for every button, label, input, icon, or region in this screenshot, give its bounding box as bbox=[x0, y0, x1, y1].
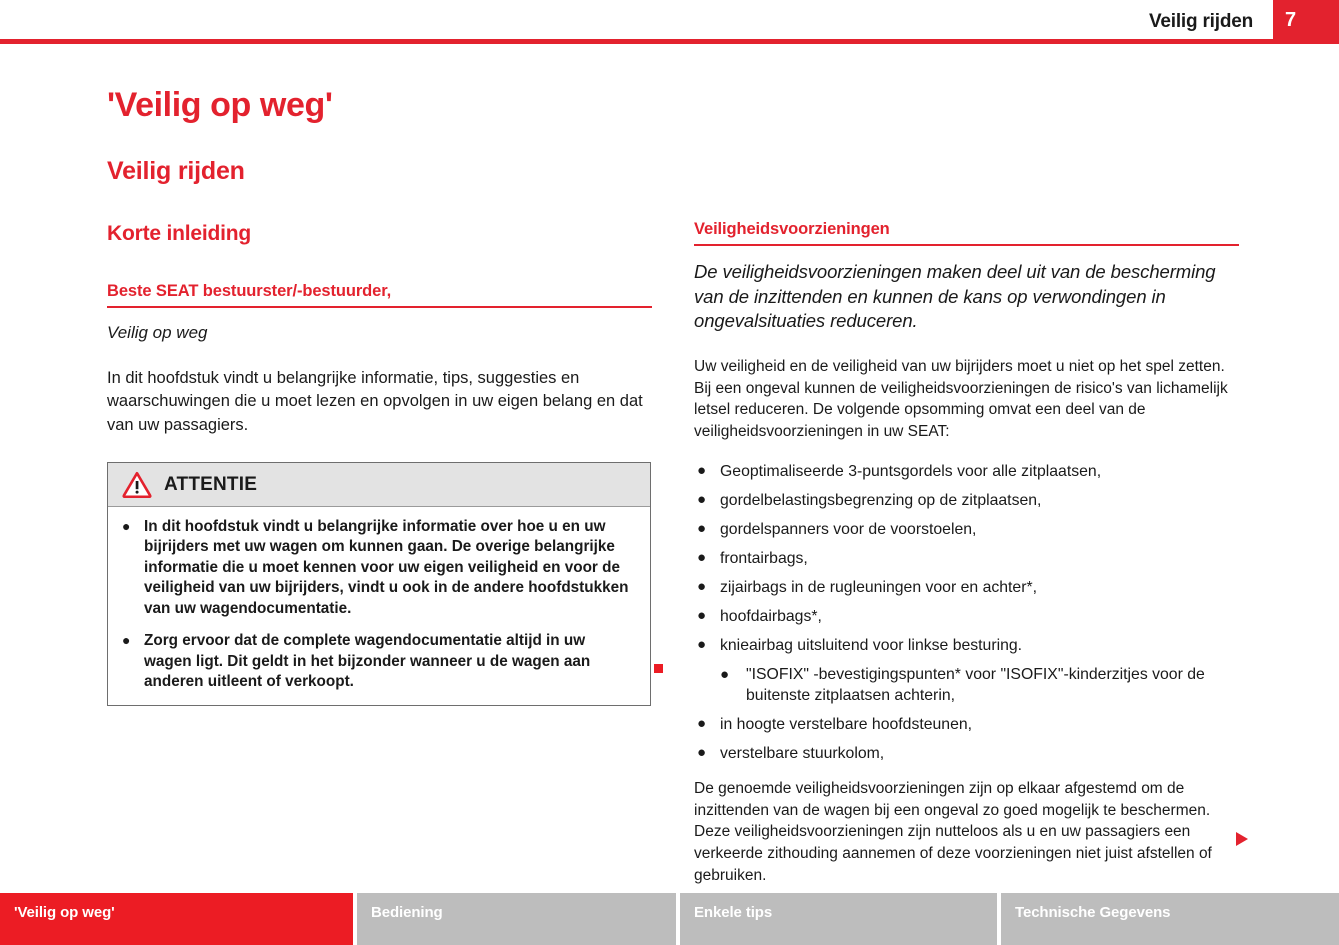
bullet-dot-icon: ● bbox=[697, 743, 706, 763]
page-number: 7 bbox=[1285, 9, 1296, 32]
warning-bullet-dot: ● bbox=[122, 517, 144, 536]
bullet-dot-icon: ● bbox=[697, 714, 706, 734]
attentie-warning-box: ATTENTIE ●In dit hoofdstuk vindt u belan… bbox=[107, 462, 651, 706]
safety-features-list: ●Geoptimaliseerde 3-puntsgordels voor al… bbox=[694, 461, 1239, 764]
warning-triangle-icon bbox=[122, 471, 152, 498]
left-sub-heading: Beste SEAT bestuurster/-bestuurder, bbox=[107, 282, 652, 302]
footer-tab-label: Bediening bbox=[371, 904, 443, 921]
continuation-arrow-icon bbox=[1236, 832, 1248, 846]
footer-tab-veilig-op-weg[interactable]: 'Veilig op weg' bbox=[0, 893, 353, 945]
list-item: ●gordelbelastingsbegrenzing op de zitpla… bbox=[694, 490, 1239, 511]
warning-item-text: In dit hoofdstuk vindt u belangrijke inf… bbox=[144, 518, 628, 617]
red-square-marker bbox=[654, 664, 663, 673]
list-item-text: verstelbare stuurkolom, bbox=[720, 745, 884, 762]
page-header: Veilig rijden 7 bbox=[0, 0, 1339, 44]
warning-bullet-dot: ● bbox=[122, 631, 144, 650]
left-heading-rule bbox=[107, 306, 652, 309]
list-item: ●in hoogte verstelbare hoofdsteunen, bbox=[694, 714, 1239, 735]
list-item: ●frontairbags, bbox=[694, 548, 1239, 569]
bullet-dot-icon: ● bbox=[697, 635, 706, 655]
right-paragraph-1: Uw veiligheid en de veiligheid van uw bi… bbox=[694, 356, 1239, 443]
list-item-text: frontairbags, bbox=[720, 550, 808, 567]
list-item-text: "ISOFIX" -bevestigingspunten* voor "ISOF… bbox=[746, 666, 1205, 704]
footer-tab-enkele-tips[interactable]: Enkele tips bbox=[680, 893, 997, 945]
bullet-dot-icon: ● bbox=[697, 461, 706, 481]
warning-item-text: Zorg ervoor dat de complete wagendocumen… bbox=[144, 632, 590, 690]
chapter-title: Veilig rijden bbox=[107, 157, 245, 186]
warning-box-header: ATTENTIE bbox=[108, 463, 650, 507]
right-paragraph-2: De genoemde veiligheidsvoorzieningen zij… bbox=[694, 778, 1239, 886]
footer-tab-label: Enkele tips bbox=[694, 904, 772, 921]
section-title: Korte inleiding bbox=[107, 222, 251, 246]
bullet-dot-icon: ● bbox=[697, 548, 706, 568]
header-chapter-title: Veilig rijden bbox=[1149, 11, 1253, 33]
right-heading-rule bbox=[694, 244, 1239, 247]
bullet-dot-icon: ● bbox=[720, 665, 746, 685]
footer-tab-label: Technische Gegevens bbox=[1015, 904, 1170, 921]
footer-tab-bar: 'Veilig op weg' Bediening Enkele tips Te… bbox=[0, 893, 1339, 945]
left-paragraph: In dit hoofdstuk vindt u belangrijke inf… bbox=[107, 367, 652, 437]
list-item-text: gordelspanners voor de voorstoelen, bbox=[720, 521, 976, 538]
list-item: ●knieairbag uitsluitend voor linkse best… bbox=[694, 635, 1239, 656]
list-item-text: in hoogte verstelbare hoofdsteunen, bbox=[720, 716, 972, 733]
list-item: ●verstelbare stuurkolom, bbox=[694, 743, 1239, 764]
footer-tab-technische-gegevens[interactable]: Technische Gegevens bbox=[1001, 893, 1339, 945]
list-item: ●"ISOFIX" -bevestigingspunten* voor "ISO… bbox=[720, 664, 1239, 706]
list-item: ●hoofdairbags*, bbox=[694, 606, 1239, 627]
list-item-text: zijairbags in de rugleuningen voor en ac… bbox=[720, 579, 1037, 596]
left-column: Beste SEAT bestuurster/-bestuurder, Veil… bbox=[107, 282, 652, 455]
warning-label: ATTENTIE bbox=[164, 474, 257, 496]
warning-box-body: ●In dit hoofdstuk vindt u belangrijke in… bbox=[108, 507, 650, 705]
right-sub-heading: Veiligheidsvoorzieningen bbox=[694, 220, 1239, 240]
warning-item: ●Zorg ervoor dat de complete wagendocume… bbox=[122, 631, 636, 692]
left-lead-italic: Veilig op weg bbox=[107, 322, 652, 345]
bullet-dot-icon: ● bbox=[697, 577, 706, 597]
bullet-dot-icon: ● bbox=[697, 490, 706, 510]
footer-tab-label: 'Veilig op weg' bbox=[14, 904, 115, 921]
list-item-text: knieairbag uitsluitend voor linkse bestu… bbox=[720, 637, 1022, 654]
list-item-text: Geoptimaliseerde 3-puntsgordels voor all… bbox=[720, 463, 1101, 480]
warning-item: ●In dit hoofdstuk vindt u belangrijke in… bbox=[122, 517, 636, 619]
bullet-dot-icon: ● bbox=[697, 519, 706, 539]
list-item-text: hoofdairbags*, bbox=[720, 608, 822, 625]
page-content: 'Veilig op weg' Veilig rijden Korte inle… bbox=[0, 44, 1339, 889]
list-item: ●Geoptimaliseerde 3-puntsgordels voor al… bbox=[694, 461, 1239, 482]
page-number-badge: 7 bbox=[1273, 0, 1339, 39]
list-item-text: gordelbelastingsbegrenzing op de zitplaa… bbox=[720, 492, 1041, 509]
document-title: 'Veilig op weg' bbox=[107, 86, 333, 125]
list-item: ●gordelspanners voor de voorstoelen, bbox=[694, 519, 1239, 540]
bullet-dot-icon: ● bbox=[697, 606, 706, 626]
footer-tab-bediening[interactable]: Bediening bbox=[357, 893, 676, 945]
right-column: Veiligheidsvoorzieningen De veiligheidsv… bbox=[694, 220, 1239, 904]
right-intro-italic: De veiligheidsvoorzieningen maken deel u… bbox=[694, 260, 1239, 334]
list-item: ●zijairbags in de rugleuningen voor en a… bbox=[694, 577, 1239, 598]
